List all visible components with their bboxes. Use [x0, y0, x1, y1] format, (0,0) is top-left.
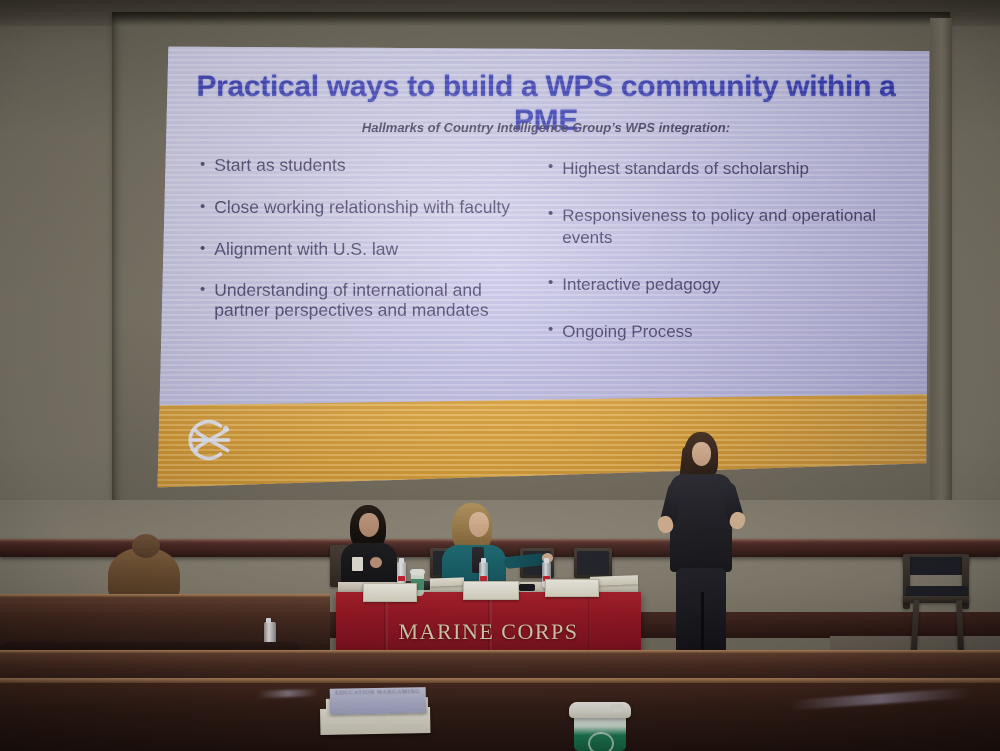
bullet-dot-icon: •: [548, 158, 553, 179]
slide-surface: Practical ways to build a WPS community …: [156, 44, 934, 490]
bullet-dot-icon: •: [200, 156, 205, 176]
cup-logo-icon: [588, 732, 614, 751]
mobile-phone: [519, 584, 535, 591]
face: [692, 442, 711, 466]
bullet-item: • Ongoing Process: [548, 321, 878, 342]
table-banner-text: MARINE CORPS: [336, 619, 641, 645]
bullet-item: • Close working relationship with facult…: [200, 198, 530, 218]
bullet-item: • Alignment with U.S. law: [200, 240, 530, 260]
bullet-text: Understanding of international and partn…: [214, 281, 530, 321]
conference-room-photo: Practical ways to build a WPS community …: [0, 0, 1000, 751]
hand: [370, 557, 382, 568]
papers: [430, 577, 464, 586]
bullet-dot-icon: •: [548, 274, 553, 295]
band-scanlines: [156, 394, 934, 490]
slide-footer-band: [156, 394, 934, 490]
bullet-dot-icon: •: [200, 281, 205, 321]
slide-subtitle: Hallmarks of Country Intelligence Group’…: [196, 120, 896, 135]
booklet-stack: EDUCATION WARGAMING: [320, 687, 431, 725]
bench-lip-front: [0, 678, 1000, 683]
bullet-text: Alignment with U.S. law: [214, 240, 398, 260]
bullet-dot-icon: •: [548, 205, 553, 248]
cup-lid-tab: [610, 704, 624, 711]
bullet-item: • Interactive pedagogy: [548, 274, 878, 295]
bullet-item: • Highest standards of scholarship: [548, 158, 878, 179]
audience-desk-lip: [0, 594, 330, 598]
bullet-text: Ongoing Process: [562, 321, 692, 342]
placard-center: [463, 581, 519, 600]
bullet-text: Responsiveness to policy and operational…: [562, 205, 878, 248]
slide-content: Practical ways to build a WPS community …: [156, 44, 934, 490]
placard-text: [546, 580, 598, 588]
slide-bullet-columns: • Start as students • Close working rela…: [200, 156, 900, 368]
bullet-item: • Start as students: [200, 156, 530, 176]
bullet-dot-icon: •: [200, 198, 205, 218]
placard-text: [364, 584, 416, 592]
bench-row-front: [0, 680, 1000, 751]
bullet-text: Interactive pedagogy: [562, 274, 720, 295]
placard-text: [464, 582, 518, 590]
name-badge: [352, 557, 363, 571]
bullet-text: Start as students: [214, 156, 345, 176]
bullet-dot-icon: •: [548, 321, 553, 342]
placard-right: [545, 579, 599, 597]
face: [359, 513, 379, 537]
bullet-item: • Understanding of international and par…: [200, 281, 530, 321]
bullet-column-left: • Start as students • Close working rela…: [200, 156, 530, 368]
bullet-text: Close working relationship with faculty: [214, 198, 510, 218]
hair-bun: [132, 534, 160, 558]
face: [469, 512, 489, 537]
booklet-cover: EDUCATION WARGAMING: [330, 687, 426, 715]
placard-left: [363, 583, 417, 602]
bullet-item: • Responsiveness to policy and operation…: [548, 205, 878, 248]
bullet-text: Highest standards of scholarship: [562, 158, 809, 179]
bullet-dot-icon: •: [200, 240, 205, 260]
coffee-cup-foreground: [572, 702, 628, 751]
globe-c-logo-icon: [182, 412, 238, 468]
booklet-cover-text: EDUCATION WARGAMING: [330, 689, 426, 697]
bench-lip-mid: [0, 650, 1000, 654]
bullet-column-right: • Highest standards of scholarship • Res…: [548, 156, 878, 368]
